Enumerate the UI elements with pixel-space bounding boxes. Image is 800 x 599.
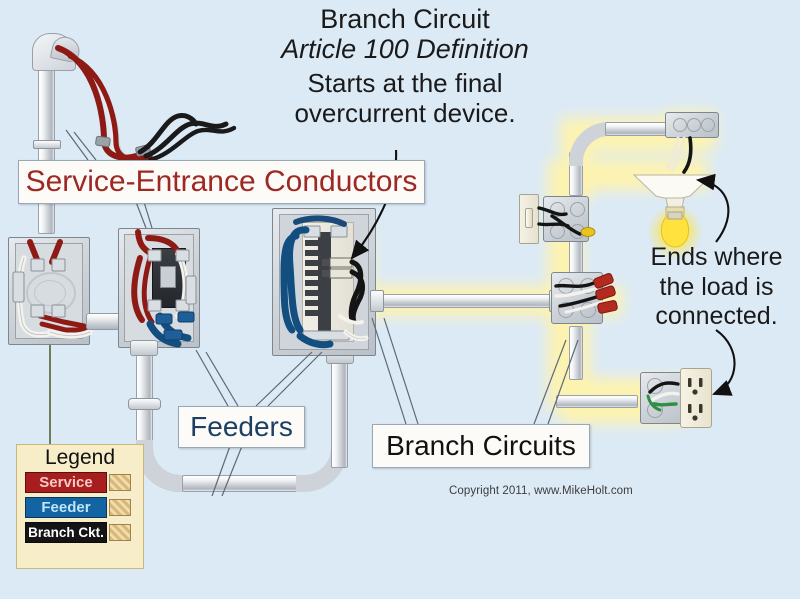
- feeder-conduit-horizontal: [182, 475, 304, 492]
- ends-where-load-connected-caption: Ends where the load is connected.: [634, 243, 799, 332]
- branch-conduit-connector-left: [370, 290, 384, 312]
- receptacle-feed-conduit: [556, 395, 638, 408]
- callout-branch-label: Branch Circuits: [386, 430, 576, 462]
- callout-service-label: Service-Entrance Conductors: [26, 165, 418, 199]
- legend-chip-branch: Branch Ckt.: [25, 522, 107, 543]
- callout-feeders-label: Feeders: [190, 411, 293, 443]
- panel-bus-bar: [318, 232, 331, 332]
- disconnect-conduit-hub: [130, 340, 158, 356]
- legend-hatch-service: [109, 474, 131, 491]
- copyright-notice: Copyright 2011, www.MikeHolt.com: [449, 485, 633, 497]
- branch-conduit-riser-lower: [569, 326, 583, 380]
- meter-ground-conductor: [49, 345, 51, 445]
- branch-conduit-riser-upper: [569, 236, 583, 276]
- legend-label-feeder: Feeder: [41, 499, 90, 516]
- switch-box-knockout-c: [550, 224, 565, 239]
- disconnect-breaker-handle[interactable]: [160, 266, 176, 288]
- switch-box-knockout-b: [570, 202, 585, 217]
- ceiling-box-knockout-b: [687, 118, 701, 132]
- legend-chip-feeder: Feeder: [25, 497, 107, 518]
- switch-box-knockout-a: [550, 202, 565, 217]
- legend-hatch-branch: [109, 524, 131, 541]
- callout-feeders: Feeders: [178, 406, 305, 448]
- ends-caption-line-2: the load is: [634, 273, 799, 303]
- feeder-conduit-right-riser: [331, 360, 348, 468]
- meter-ring-inner: [34, 280, 66, 306]
- toggle-switch-lever[interactable]: [525, 208, 533, 228]
- title-line-1: Branch Circuit: [255, 4, 555, 34]
- legend-row-branch: Branch Ckt.: [25, 522, 135, 544]
- receptacle-box-knockout-b: [647, 402, 663, 418]
- callout-service-entrance-conductors: Service-Entrance Conductors: [18, 160, 425, 204]
- junction-box-right-knockout-d: [580, 302, 596, 318]
- junction-box-right: [551, 272, 603, 324]
- mast-strap-upper: [33, 140, 61, 149]
- junction-box-right-knockout-a: [558, 278, 574, 294]
- feeder-conduit-coupling-left: [128, 398, 161, 410]
- title-line-3: Starts at the final: [255, 69, 555, 98]
- legend-row-service: Service: [25, 472, 135, 494]
- ceiling-box-knockout-a: [673, 118, 687, 132]
- ends-caption-line-1: Ends where: [634, 243, 799, 273]
- ceiling-box-knockout-c: [701, 118, 715, 132]
- diagram-canvas: Branch Circuit Article 100 Definition St…: [0, 0, 800, 599]
- receptacle-box-knockout-a: [647, 378, 663, 394]
- callout-branch-circuits: Branch Circuits: [372, 424, 590, 468]
- switch-box-knockout-d: [570, 224, 585, 239]
- duplex-receptacle[interactable]: [680, 368, 712, 428]
- legend-row-feeder: Feeder: [25, 497, 135, 519]
- ends-caption-line-3: connected.: [634, 302, 799, 332]
- branch-conduit-horizontal: [376, 294, 556, 308]
- legend: Legend Service Feeder Branch Ckt.: [16, 444, 144, 569]
- legend-chip-service: Service: [25, 472, 107, 493]
- title-line-2: Article 100 Definition: [255, 34, 555, 64]
- meter-to-disconnect-nipple: [86, 313, 122, 330]
- title-line-4: overcurrent device.: [255, 99, 555, 128]
- legend-label-branch: Branch Ckt.: [28, 525, 104, 540]
- legend-label-service: Service: [39, 474, 92, 491]
- page-title: Branch Circuit Article 100 Definition St…: [255, 4, 555, 128]
- junction-box-right-knockout-b: [580, 278, 596, 294]
- legend-hatch-feeder: [109, 499, 131, 516]
- legend-title: Legend: [17, 447, 143, 469]
- junction-box-right-knockout-c: [558, 302, 574, 318]
